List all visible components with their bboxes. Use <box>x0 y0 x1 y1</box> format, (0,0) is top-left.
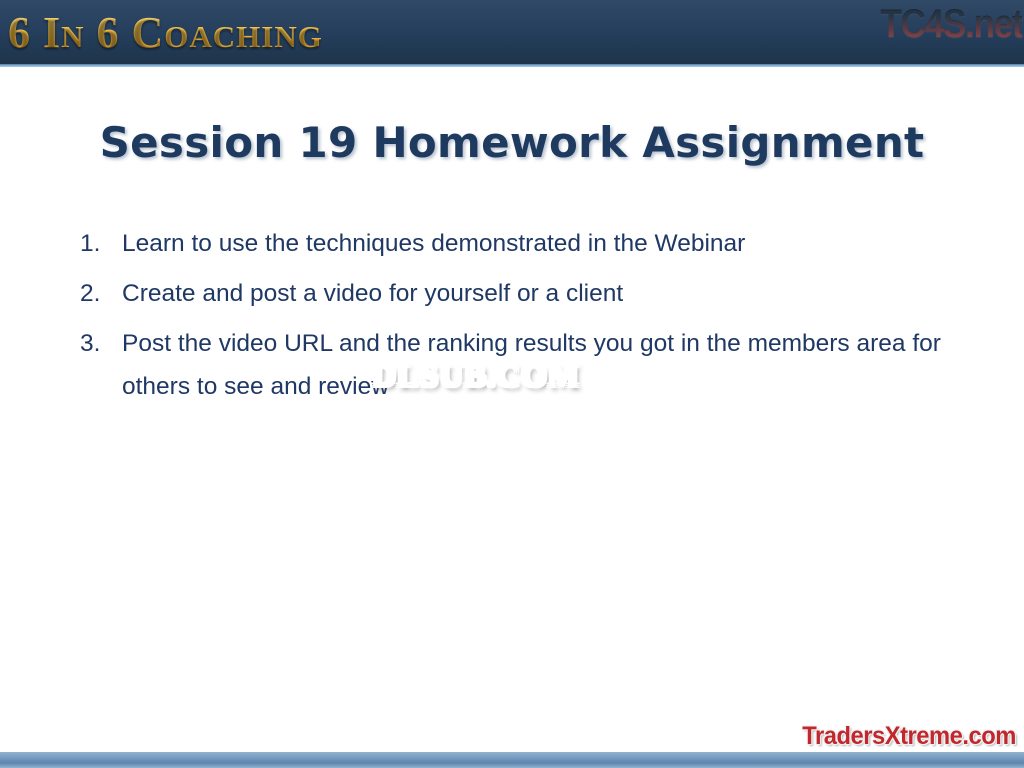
slide-footer-bar <box>0 752 1024 768</box>
list-item-marker: 3. <box>80 322 110 365</box>
footer-bar-highlight <box>0 752 1024 760</box>
list-item: 2. Create and post a video for yourself … <box>76 272 976 315</box>
slide-title: Session 19 Homework Assignment <box>0 118 1024 167</box>
presentation-slide: 6 In 6 Coaching TC4S.net Session 19 Home… <box>0 0 1024 768</box>
header-underline-accent <box>0 64 1024 67</box>
list-item-text: Learn to use the techniques demonstrated… <box>122 222 976 265</box>
list-item-text: Create and post a video for yourself or … <box>122 272 976 315</box>
tc4s-net-logo: TC4S.net <box>880 2 1022 46</box>
tradersxtreme-com-logo: TradersXtreme.com <box>802 722 1016 750</box>
slide-header-bar: 6 In 6 Coaching TC4S.net <box>0 0 1024 67</box>
list-item: 1. Learn to use the techniques demonstra… <box>76 222 976 265</box>
dlsub-com-watermark: DLSUB.COM <box>372 358 580 394</box>
list-item-marker: 1. <box>80 222 110 265</box>
list-item-marker: 2. <box>80 272 110 315</box>
brand-logo-6in6-coaching: 6 In 6 Coaching <box>8 7 323 59</box>
